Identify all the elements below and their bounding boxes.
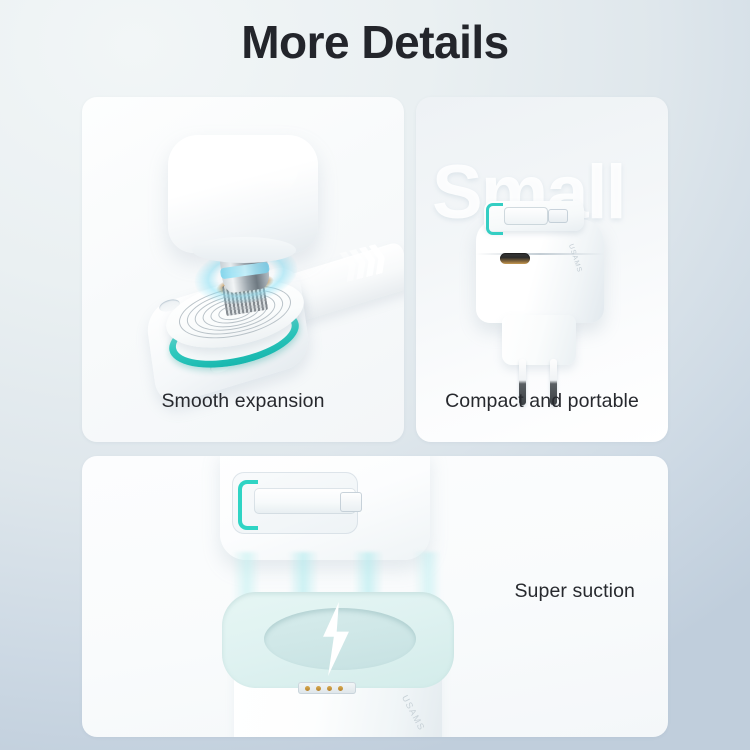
card-caption: Compact and portable [416, 390, 668, 413]
plug-base-shape [502, 315, 576, 365]
connector-tip-shape [340, 492, 362, 512]
teal-ring [486, 203, 503, 235]
card-row-bottom: USAMS Super suction [82, 456, 668, 737]
card-super-suction[interactable]: USAMS Super suction [82, 456, 668, 737]
pogo-pins-icon [298, 682, 356, 694]
card-row-top: Smooth expansion Small USAMS Compact and… [82, 97, 668, 442]
card-compact-portable[interactable]: Small USAMS Compact and portable [416, 97, 668, 442]
card-smooth-expansion[interactable]: Smooth expansion [82, 97, 404, 442]
card-caption: Smooth expansion [82, 390, 404, 413]
charger-pad-shape [504, 207, 548, 225]
card-caption: Super suction [514, 580, 635, 603]
usb-c-port-icon [500, 253, 530, 264]
connector-tip-shape [548, 209, 568, 223]
charger-body-shape [168, 135, 318, 253]
page-title: More Details [0, 0, 750, 65]
details-card-grid: Smooth expansion Small USAMS Compact and… [82, 97, 668, 737]
